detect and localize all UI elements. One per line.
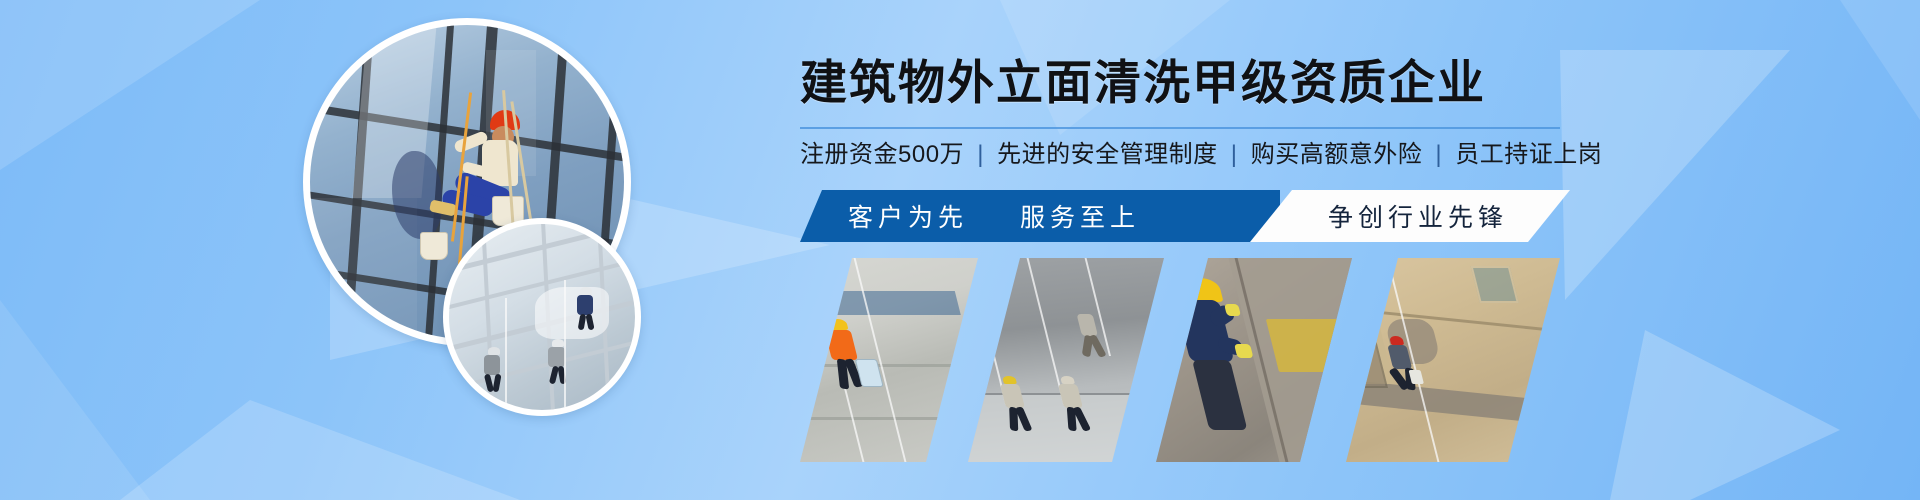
strip-photo-2 (968, 258, 1164, 462)
facade-cleaning-image (449, 224, 635, 410)
subline-item-4: 员工持证上岗 (1455, 141, 1602, 168)
slogan-text-customer-first: 客户为先 (848, 198, 968, 234)
slogan-bar: 客户为先 服务至上 争创行业先锋 (788, 190, 1558, 242)
subline-separator-3: | (1429, 141, 1448, 168)
promotional-banner: 建筑物外立面清洗甲级资质企业 注册资金500万 | 先进的安全管理制度 | 购买… (0, 0, 1920, 500)
strip-photo-4 (1346, 258, 1560, 462)
headline-underline (800, 127, 1560, 129)
slogan-dark-text: 客户为先 服务至上 (788, 190, 1268, 242)
slogan-text-industry-pioneer: 争创行业先锋 (1328, 198, 1508, 234)
photo-circle-small (443, 218, 641, 416)
strip-photo-1 (800, 258, 978, 462)
subline-separator-1: | (971, 141, 990, 168)
slogan-light-text: 争创行业先锋 (1250, 190, 1570, 242)
slogan-text-service-supreme: 服务至上 (1020, 198, 1140, 234)
banner-subline: 注册资金500万 | 先进的安全管理制度 | 购买高额意外险 | 员工持证上岗 (800, 140, 1580, 170)
subline-item-1: 注册资金500万 (800, 141, 964, 168)
banner-headline: 建筑物外立面清洗甲级资质企业 (800, 52, 1560, 114)
subline-item-3: 购买高额意外险 (1251, 141, 1423, 168)
subline-separator-2: | (1225, 141, 1244, 168)
strip-photo-3 (1156, 258, 1352, 462)
photo-strip (800, 258, 1570, 462)
subline-item-2: 先进的安全管理制度 (997, 141, 1218, 168)
